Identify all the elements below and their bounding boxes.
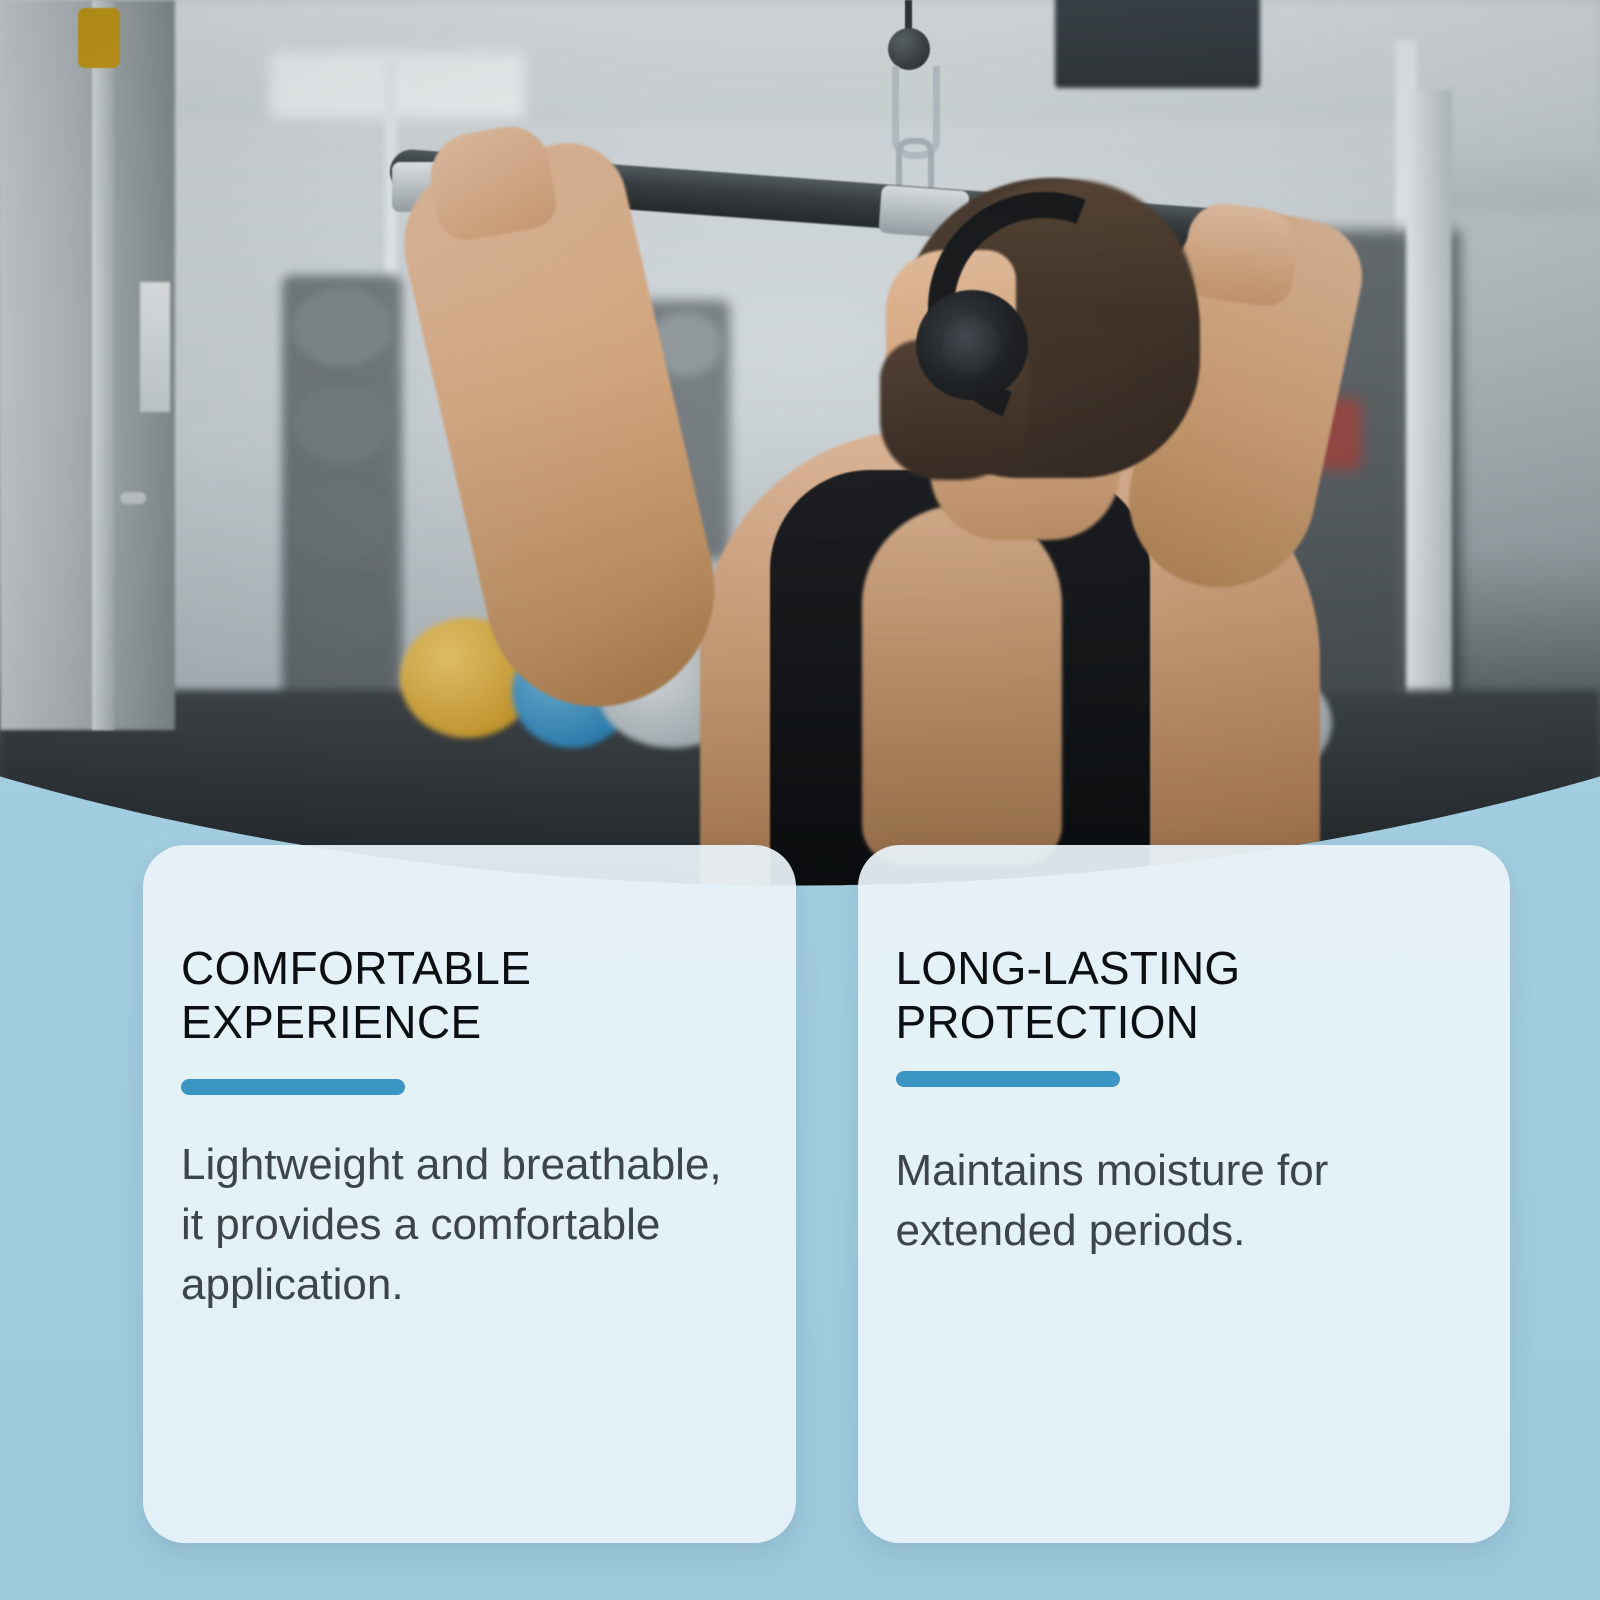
headphones-earcup-inner-icon <box>942 316 1000 374</box>
ceiling-light-panel-icon <box>270 52 525 124</box>
medicine-ball-icon <box>292 385 392 463</box>
carabiner-hook-lower-icon <box>896 138 934 190</box>
medicine-ball-icon <box>292 578 392 656</box>
feature-card-body: Maintains moisture for extended periods. <box>896 1141 1416 1261</box>
cable-stopper-ball-icon <box>888 28 930 70</box>
door-yellow-plate-icon <box>78 8 120 68</box>
feature-card-title: LONG-LASTING PROTECTION <box>896 941 1451 1049</box>
hero-image-wrapper <box>0 0 1600 942</box>
feature-card-row: COMFORTABLE EXPERIENCE Lightweight and b… <box>143 845 1510 1543</box>
feature-card-body: Lightweight and breathable, it provides … <box>181 1135 736 1315</box>
product-feature-graphic: COMFORTABLE EXPERIENCE Lightweight and b… <box>0 0 1600 1600</box>
door-handle-icon <box>120 492 146 504</box>
hero-image-ellipse-clip <box>0 0 1600 942</box>
gym-photo <box>0 0 1600 942</box>
medicine-ball-icon <box>292 482 392 560</box>
medicine-ball-icon <box>292 288 392 366</box>
wall-monitor-icon <box>1055 0 1260 88</box>
feature-card-long-lasting-protection: LONG-LASTING PROTECTION Maintains moistu… <box>858 845 1511 1543</box>
accent-rule <box>181 1079 405 1095</box>
tank-top-back-opening <box>862 505 1062 865</box>
feature-card-comfortable-experience: COMFORTABLE EXPERIENCE Lightweight and b… <box>143 845 796 1543</box>
white-pillar <box>1406 90 1452 790</box>
accent-rule <box>896 1071 1120 1087</box>
feature-card-title: COMFORTABLE EXPERIENCE <box>181 941 736 1049</box>
door-edge <box>92 0 114 730</box>
door-label-sticker <box>140 282 170 412</box>
